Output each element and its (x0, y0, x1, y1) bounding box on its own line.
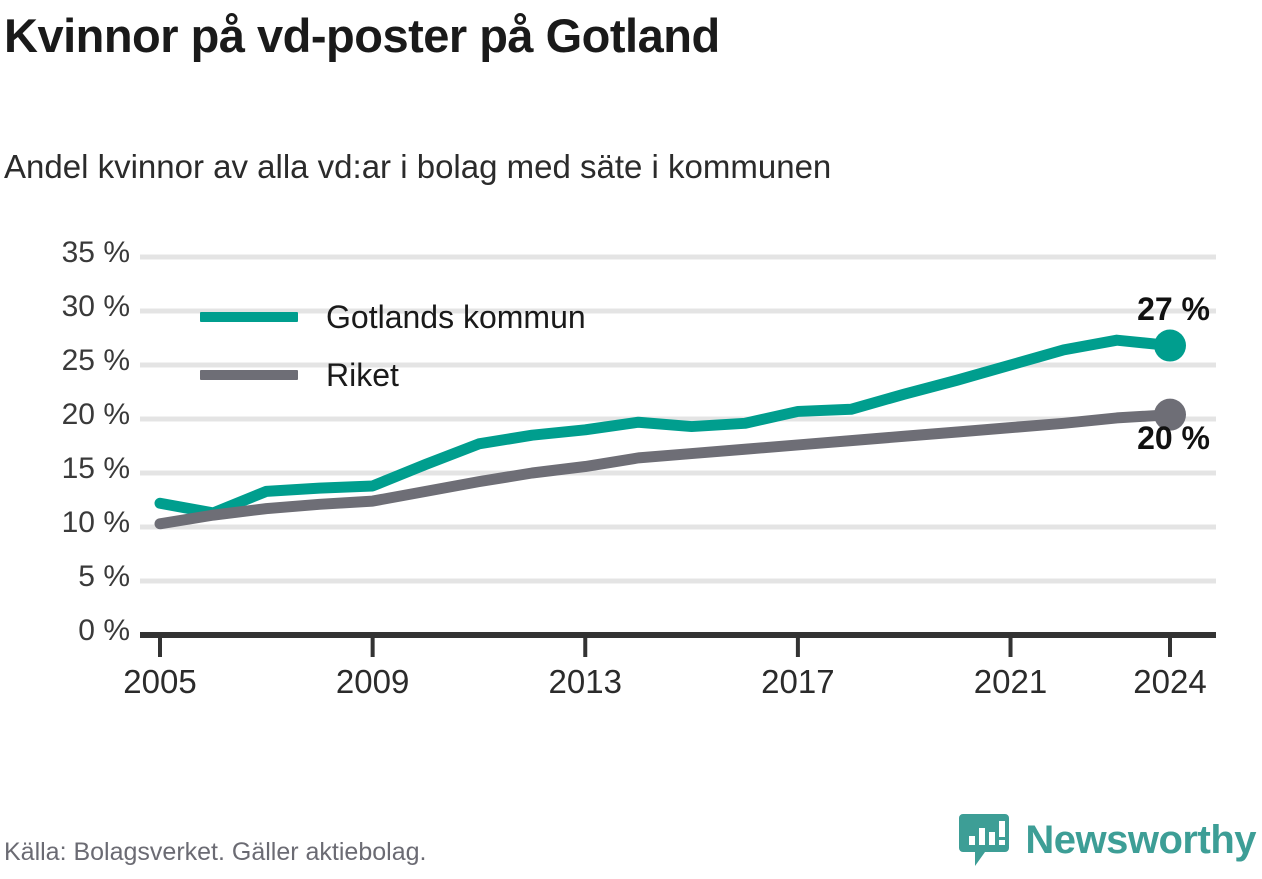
y-axis-tick-label: 35 % (10, 236, 130, 270)
y-axis-tick-label: 0 % (10, 614, 130, 648)
y-axis-tick-label: 30 % (10, 290, 130, 324)
y-axis-tick-label: 5 % (10, 560, 130, 594)
chart-legend: Gotlands kommun Riket (200, 288, 586, 404)
legend-swatch-primary (200, 312, 298, 322)
series-line-secondary (160, 415, 1170, 524)
x-axis-tick-label: 2024 (1133, 663, 1206, 701)
end-value-label-primary: 27 % (1137, 291, 1210, 328)
legend-item-riket[interactable]: Riket (200, 346, 586, 404)
legend-label-secondary: Riket (326, 357, 399, 394)
line-chart (0, 0, 1262, 879)
end-value-label-secondary: 20 % (1137, 420, 1210, 457)
y-axis-tick-label: 15 % (10, 452, 130, 486)
x-axis-tick-label: 2021 (974, 663, 1047, 701)
x-axis-tick-label: 2017 (761, 663, 834, 701)
chart-page: Kvinnor på vd-poster på Gotland Andel kv… (0, 0, 1262, 879)
legend-swatch-secondary (200, 370, 298, 380)
y-axis-tick-label: 25 % (10, 344, 130, 378)
end-marker-primary (1154, 330, 1186, 362)
x-axis-tick-label: 2013 (549, 663, 622, 701)
newsworthy-logo[interactable]: Newsworthy (959, 812, 1256, 868)
x-axis-tick-label: 2005 (123, 663, 196, 701)
y-axis-tick-label: 10 % (10, 506, 130, 540)
y-axis-tick-label: 20 % (10, 398, 130, 432)
x-axis-tick-label: 2009 (336, 663, 409, 701)
legend-item-gotlands-kommun[interactable]: Gotlands kommun (200, 288, 586, 346)
source-note: Källa: Bolagsverket. Gäller aktiebolag. (4, 838, 426, 867)
logo-wordmark: Newsworthy (1025, 818, 1256, 863)
legend-label-primary: Gotlands kommun (326, 299, 586, 336)
bar-chart-speech-bubble-icon (959, 812, 1011, 868)
